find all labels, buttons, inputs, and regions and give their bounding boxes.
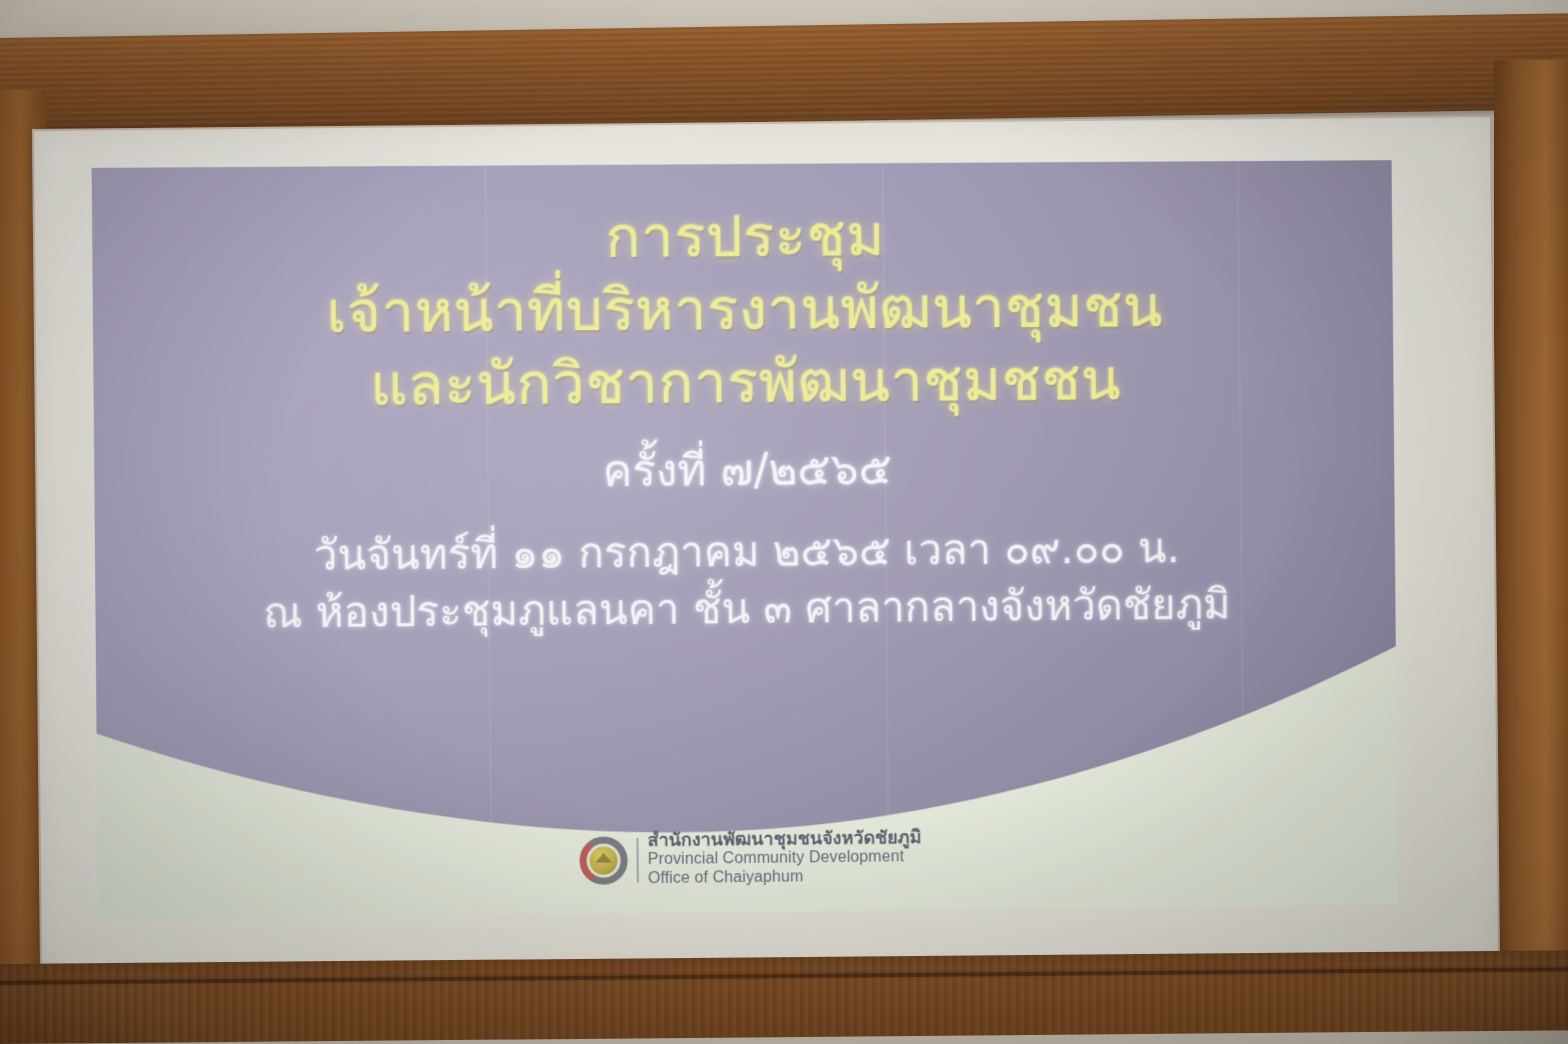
wood-frame-right [1494, 60, 1568, 1010]
wood-wainscot [0, 950, 1568, 1044]
slide-occurrence: ครั้งที่ ๗/๒๕๖๕ [94, 440, 1394, 503]
org-name-thai: สำนักงานพัฒนาชุมชนจังหวัดชัยภูมิ [647, 827, 921, 851]
slide-text-block: การประชุม เจ้าหน้าที่บริหารงานพัฒนาชุมชน… [92, 196, 1396, 643]
slide-datetime: วันจันทร์ที่ ๑๑ กรกฎาคม ๒๕๖๕ เวลา ๐๙.๐๐ … [95, 518, 1395, 585]
logo-divider [636, 838, 638, 882]
slide-title-line-2: เจ้าหน้าที่บริหารงานพัฒนาชุมชน [93, 269, 1394, 351]
slide-title-line-3: และนักวิชาการพัฒนาชุมชชน [93, 341, 1394, 424]
org-name-english-1: Provincial Community Development [648, 848, 922, 870]
slide-footer-lockup: สำนักงานพัฒนาชุมชนจังหวัดชัยภูมิ Provinc… [579, 827, 922, 890]
org-name-english-2: Office of Chaiyaphum [648, 867, 922, 889]
projected-slide: การประชุม เจ้าหน้าที่บริหารงานพัฒนาชุมชน… [92, 160, 1398, 919]
community-development-emblem-icon [579, 836, 628, 885]
logo-wordmark: สำนักงานพัฒนาชุมชนจังหวัดชัยภูมิ Provinc… [647, 827, 921, 889]
meeting-room-photo: การประชุม เจ้าหน้าที่บริหารงานพัฒนาชุมชน… [0, 0, 1568, 1044]
slide-title-line-1: การประชุม [92, 196, 1393, 277]
